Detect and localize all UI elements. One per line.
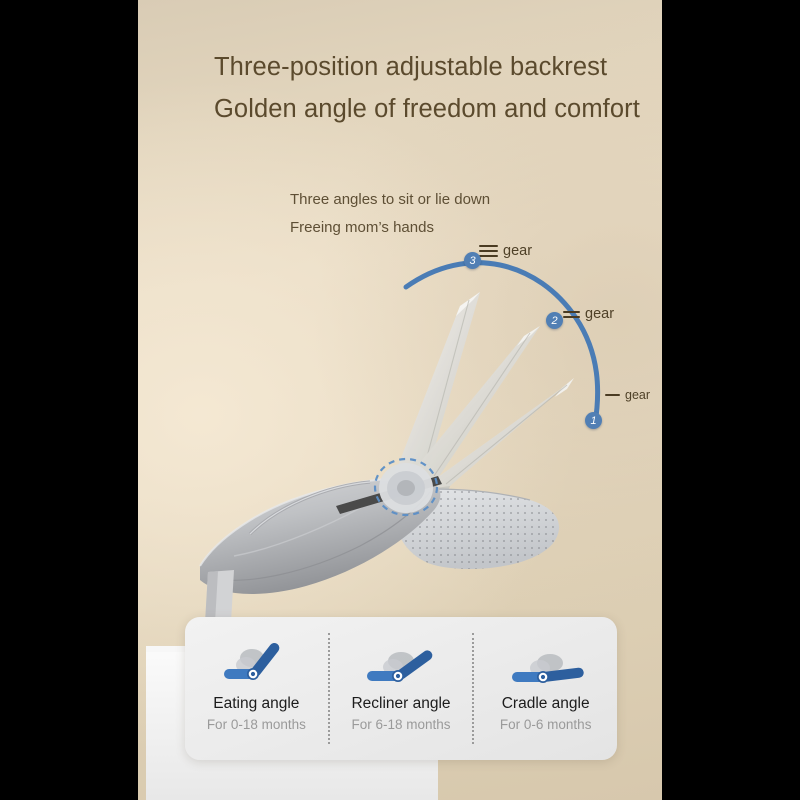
recliner-angle-title: Recliner angle — [351, 695, 450, 713]
eating-angle-icon — [208, 639, 304, 685]
eating-angle-subtitle: For 0-18 months — [207, 717, 306, 733]
gear-1-text: gear — [625, 388, 650, 402]
gear-pip-2: 2 — [546, 312, 563, 329]
recliner-angle-subtitle: For 6-18 months — [351, 717, 450, 733]
subheading: Three angles to sit or lie down Freeing … — [290, 186, 490, 242]
angle-modes-card: Eating angle For 0-18 months — [185, 617, 617, 760]
angle-mode-cradle: Cradle angle For 0-6 months — [474, 617, 617, 760]
cradle-angle-title: Cradle angle — [502, 695, 590, 713]
page-title: Three-position adjustable backrest Golde… — [214, 46, 654, 130]
gear-3-bars-icon — [479, 245, 498, 257]
gear-label-2: gear — [563, 306, 614, 322]
eating-angle-title: Eating angle — [213, 695, 299, 713]
gear-2-bars-icon — [563, 311, 580, 318]
subheading-line-2: Freeing mom’s hands — [290, 214, 490, 242]
gear-2-text: gear — [585, 306, 614, 322]
gear-pip-1: 1 — [585, 412, 602, 429]
gear-label-1: gear — [605, 388, 650, 402]
subheading-line-1: Three angles to sit or lie down — [290, 186, 490, 214]
gear-label-3: gear — [479, 243, 532, 259]
angle-mode-eating: Eating angle For 0-18 months — [185, 617, 328, 760]
gear-3-text: gear — [503, 243, 532, 259]
headline-line-1: Three-position adjustable backrest — [214, 46, 654, 88]
infographic-canvas: Three-position adjustable backrest Golde… — [0, 0, 800, 800]
headline-line-2: Golden angle of freedom and comfort — [214, 88, 654, 130]
content-panel: Three-position adjustable backrest Golde… — [138, 0, 662, 800]
gear-pip-3: 3 — [464, 252, 481, 269]
angle-mode-recliner: Recliner angle For 6-18 months — [330, 617, 473, 760]
pivot-hinge — [379, 463, 433, 513]
cradle-angle-subtitle: For 0-6 months — [500, 717, 592, 733]
recliner-angle-icon — [353, 639, 449, 685]
gear-1-bars-icon — [605, 394, 620, 396]
cradle-angle-icon — [498, 639, 594, 685]
